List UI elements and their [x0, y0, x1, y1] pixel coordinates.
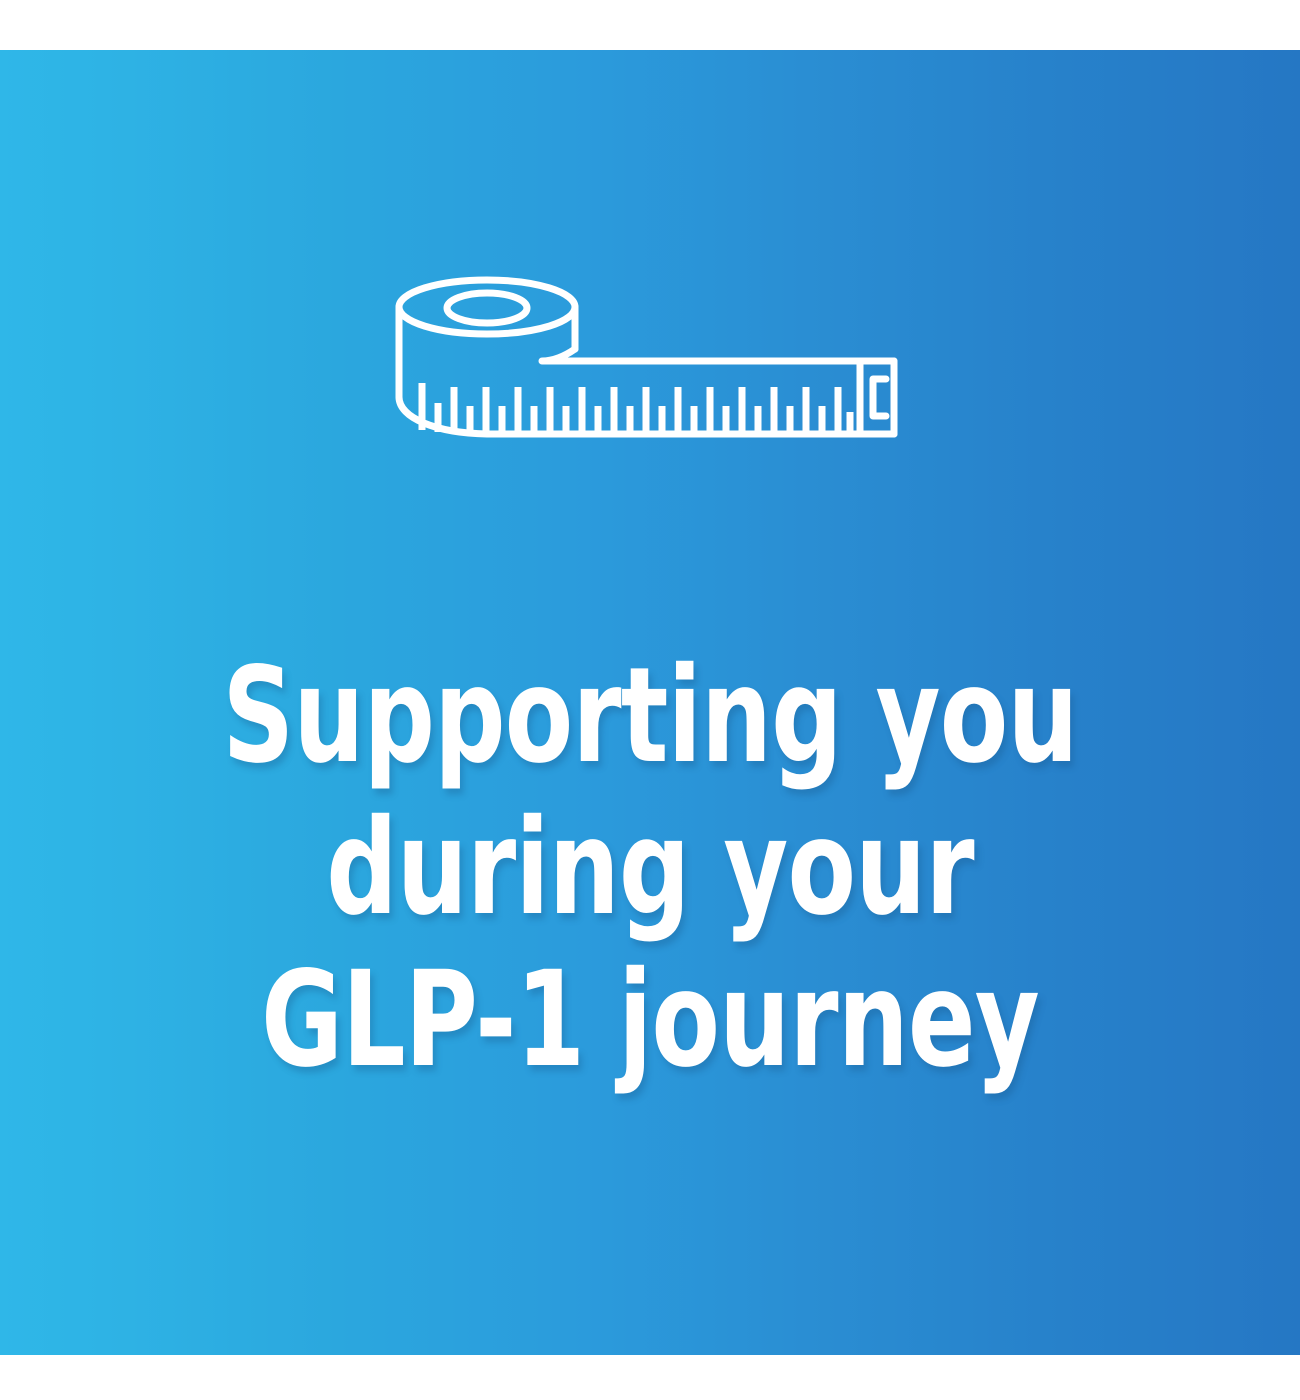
tape-measure-icon — [390, 275, 910, 470]
tape-end-clip-hook-icon — [873, 379, 886, 416]
headline-line-3: GLP-1 journey — [104, 944, 1196, 1096]
tape-roll-hub-icon — [447, 293, 527, 323]
headline: Supporting you during your GLP-1 journey — [0, 640, 1300, 1096]
headline-line-1: Supporting you — [104, 640, 1196, 792]
headline-line-2: during your — [104, 792, 1196, 944]
tape-strip-top-edge-icon — [542, 349, 894, 361]
icon-container — [0, 275, 1300, 470]
poster-card: Supporting you during your GLP-1 journey — [0, 50, 1300, 1355]
poster-frame: Supporting you during your GLP-1 journey — [0, 0, 1300, 1400]
tape-ruler-ticks-icon — [422, 383, 850, 434]
